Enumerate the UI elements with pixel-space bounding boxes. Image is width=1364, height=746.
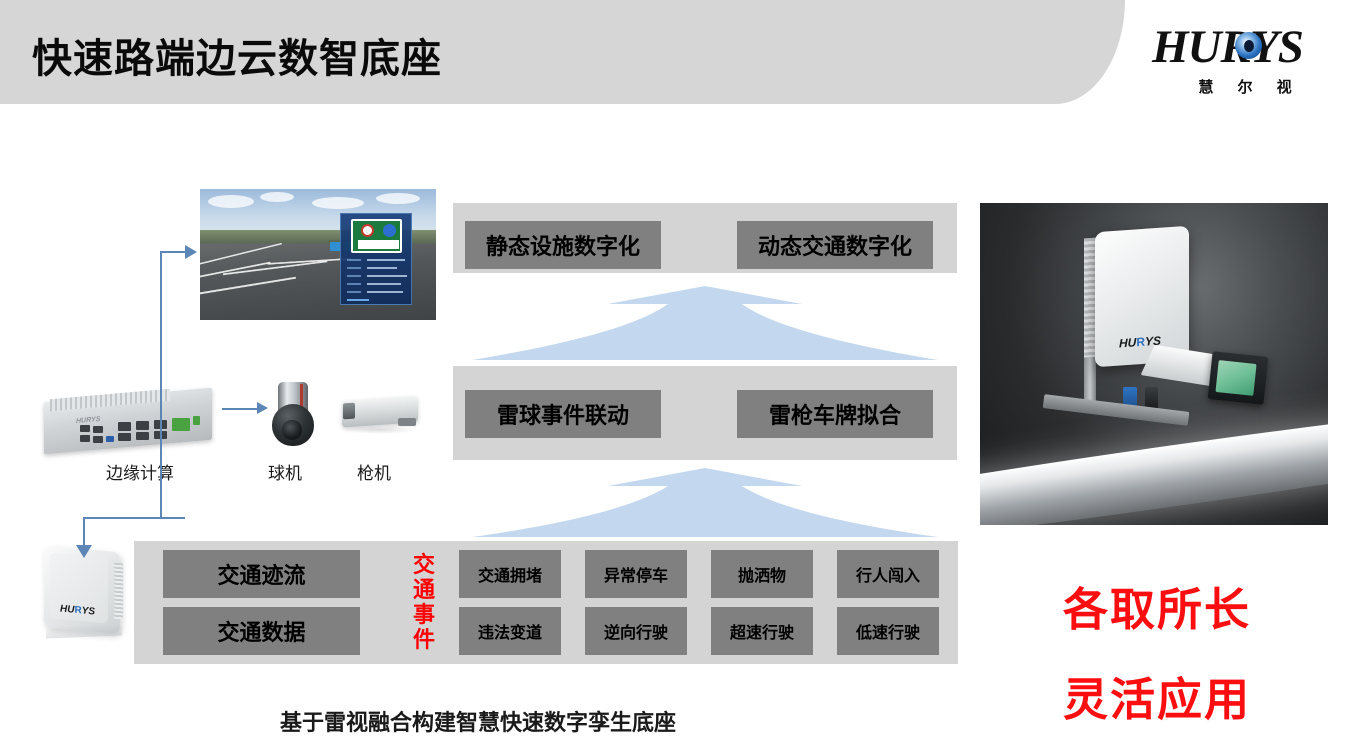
mount-bracket (1042, 394, 1189, 426)
road-sign-graphic (351, 219, 402, 253)
arrow-head-icon (257, 402, 268, 414)
brand-logo: HURYS 慧 尔 视 (1152, 22, 1338, 100)
connector-to-monitor (160, 251, 185, 253)
layer-box-traffic-data[interactable]: 交通数据 (163, 607, 360, 655)
layer-box-traffic-trajectory[interactable]: 交通迹流 (163, 550, 360, 598)
layer-panel-top: 静态设施数字化 动态交通数字化 (453, 203, 957, 273)
connector-radar-branch (83, 517, 162, 519)
layer-box-dynamic-traffic[interactable]: 动态交通数字化 (737, 221, 933, 269)
ball-camera-device-image (262, 382, 324, 458)
arrow-head-icon (76, 545, 92, 558)
funnel-arrow-upper (470, 282, 940, 364)
edge-compute-label: 边缘计算 (106, 459, 174, 484)
eye-icon (1235, 32, 1262, 59)
header-bar-corner (1000, 0, 1125, 104)
hud-info-panel (340, 213, 412, 305)
cloud (312, 197, 364, 209)
footer-caption: 基于雷视融合构建智慧快速数字孪生底座 (280, 705, 676, 737)
connector-to-ball-camera (222, 408, 258, 410)
traffic-event-char-1: 交 (413, 552, 435, 577)
digital-twin-preview-image (200, 189, 436, 320)
connector-radar-down (83, 517, 85, 545)
layer-panel-bottom: 交通迹流 交通数据 交通拥堵 异常停车 抛洒物 行人闯入 违法变道 逆向行驶 超… (134, 541, 958, 664)
radar-camera-product-image: HURYS (980, 203, 1328, 525)
layer-box-radar-bullet-plate-fusion[interactable]: 雷枪车牌拟合 (737, 390, 933, 438)
page-title: 快速路端边云数智底座 (32, 26, 442, 84)
event-box-low-speed-driving[interactable]: 低速行驶 (837, 607, 939, 655)
bullet-camera-label: 枪机 (357, 459, 391, 484)
event-box-scattered-object[interactable]: 抛洒物 (711, 550, 813, 598)
funnel-arrow-lower (470, 464, 940, 540)
layer-panel-middle: 雷球事件联动 雷枪车牌拟合 (453, 366, 957, 460)
brand-logo-subtext: 慧 尔 视 (1152, 76, 1338, 97)
connector-vertical (160, 251, 162, 519)
traffic-event-char-3: 事 (413, 602, 435, 627)
event-box-pedestrian-intrusion[interactable]: 行人闯入 (837, 550, 939, 598)
event-box-wrong-way-driving[interactable]: 逆向行驶 (585, 607, 687, 655)
cloud (260, 192, 294, 202)
slogan-line-1: 各取所长 (1063, 573, 1251, 638)
cloud (376, 193, 420, 204)
connector-to-radar (160, 517, 185, 519)
camera-lens-glass (1215, 360, 1256, 396)
event-box-illegal-lane-change[interactable]: 违法变道 (459, 607, 561, 655)
slogan-line-2: 灵活应用 (1063, 663, 1251, 728)
event-box-speeding[interactable]: 超速行驶 (711, 607, 813, 655)
event-box-congestion[interactable]: 交通拥堵 (459, 550, 561, 598)
layer-box-static-facility[interactable]: 静态设施数字化 (465, 221, 661, 269)
traffic-event-char-4: 件 (413, 627, 435, 652)
radar-unit-device-image: HURYS (38, 545, 130, 649)
traffic-event-vertical-label: 交 通 事 件 (404, 548, 444, 656)
traffic-event-char-2: 通 (413, 577, 435, 602)
bullet-camera-device-image (338, 390, 426, 440)
event-box-abnormal-parking[interactable]: 异常停车 (585, 550, 687, 598)
ball-camera-label: 球机 (268, 459, 302, 484)
arrow-head-icon (185, 245, 197, 259)
edge-compute-device-image: HURYS (36, 385, 220, 457)
cloud (208, 195, 254, 208)
layer-box-radar-ball-linkage[interactable]: 雷球事件联动 (465, 390, 661, 438)
